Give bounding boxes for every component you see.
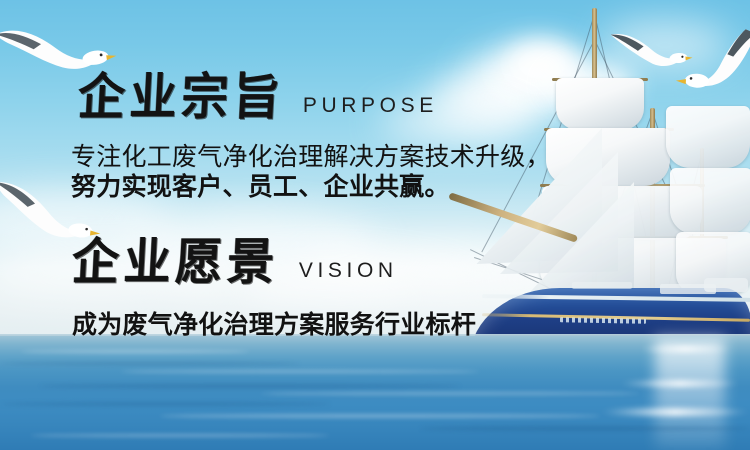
purpose-body-line-2: 努力实现客户、员工、企业共赢。 — [71, 171, 450, 205]
purpose-heading-cn: 企业宗旨 — [77, 73, 286, 123]
text-overlay: 企业宗旨 PURPOSE 专注化工废气净化治理解决方案技术升级， 努力实现客户、… — [0, 0, 750, 450]
purpose-heading-row: 企业宗旨 PURPOSE — [78, 74, 438, 121]
vision-heading-cn: 企业愿景 — [71, 238, 280, 288]
vision-body-line-1: 成为废气净化治理方案服务行业标杆 — [72, 309, 476, 343]
vision-heading-row: 企业愿景 VISION — [72, 239, 398, 286]
vision-heading-en: VISION — [299, 260, 398, 281]
purpose-body-line-1: 专注化工废气净化治理解决方案技术升级， — [71, 141, 551, 175]
purpose-heading-en: PURPOSE — [303, 95, 438, 116]
corporate-culture-banner: 企业宗旨 PURPOSE 专注化工废气净化治理解决方案技术升级， 努力实现客户、… — [0, 0, 750, 450]
